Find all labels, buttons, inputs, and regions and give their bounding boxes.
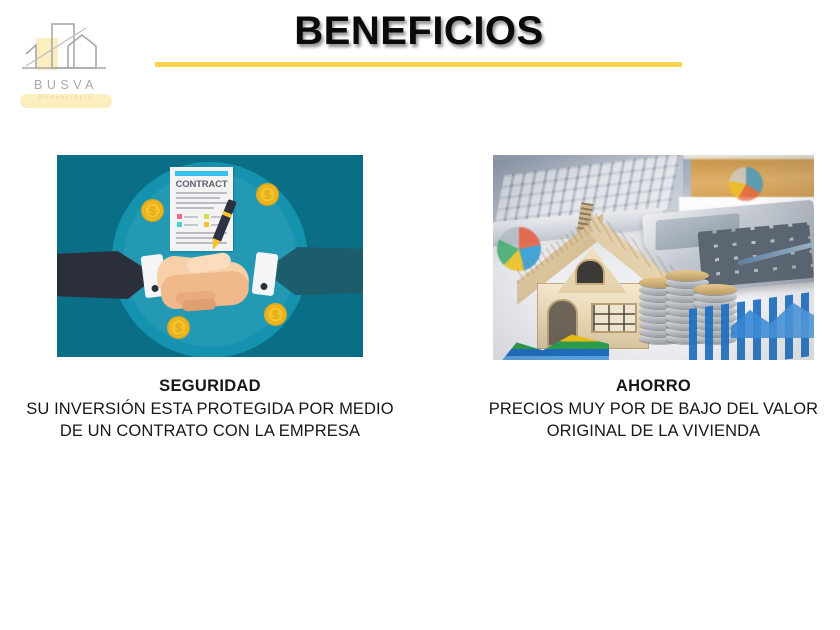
benefit-heading: AHORRO <box>472 377 835 396</box>
document-header-bar <box>175 171 228 176</box>
benefit-card-seguridad: CONTRACT <box>57 155 363 357</box>
logo-tagline: Homebrokers <box>20 95 112 101</box>
handshake-contract-illustration: CONTRACT <box>57 155 363 357</box>
title-underline-rule <box>155 62 682 67</box>
benefit-caption-seguridad: SEGURIDAD SU INVERSIÓN ESTA PROTEGIDA PO… <box>15 377 405 443</box>
benefit-body: SU INVERSIÓN ESTA PROTEGIDA POR MEDIO DE… <box>15 399 405 443</box>
busva-logo-mark <box>14 20 118 78</box>
busva-logo: BUSVA Homebrokers <box>14 20 118 108</box>
benefit-heading: SEGURIDAD <box>15 377 405 396</box>
slide: BUSVA Homebrokers BENEFICIOS CONTRACT <box>0 0 840 630</box>
dollar-coin-icon: $ <box>141 199 164 222</box>
dollar-coin-icon: $ <box>264 303 287 326</box>
house-savings-photo <box>493 155 814 360</box>
logo-tagline-pill: Homebrokers <box>20 94 112 108</box>
dollar-coin-icon: $ <box>167 316 190 339</box>
logo-wordmark: BUSVA <box>14 78 118 92</box>
handshake-hand-front <box>160 270 250 310</box>
page-title: BENEFICIOS <box>155 11 683 51</box>
document-title: CONTRACT <box>170 179 233 190</box>
benefit-caption-ahorro: AHORRO PRECIOS MUY POR DE BAJO DEL VALOR… <box>472 377 835 443</box>
benefit-body: PRECIOS MUY POR DE BAJO DEL VALOR ORIGIN… <box>472 399 835 443</box>
dollar-coin-icon: $ <box>256 183 279 206</box>
benefit-card-ahorro: AHORRO PRECIOS MUY POR DE BAJO DEL VALOR… <box>493 155 814 360</box>
